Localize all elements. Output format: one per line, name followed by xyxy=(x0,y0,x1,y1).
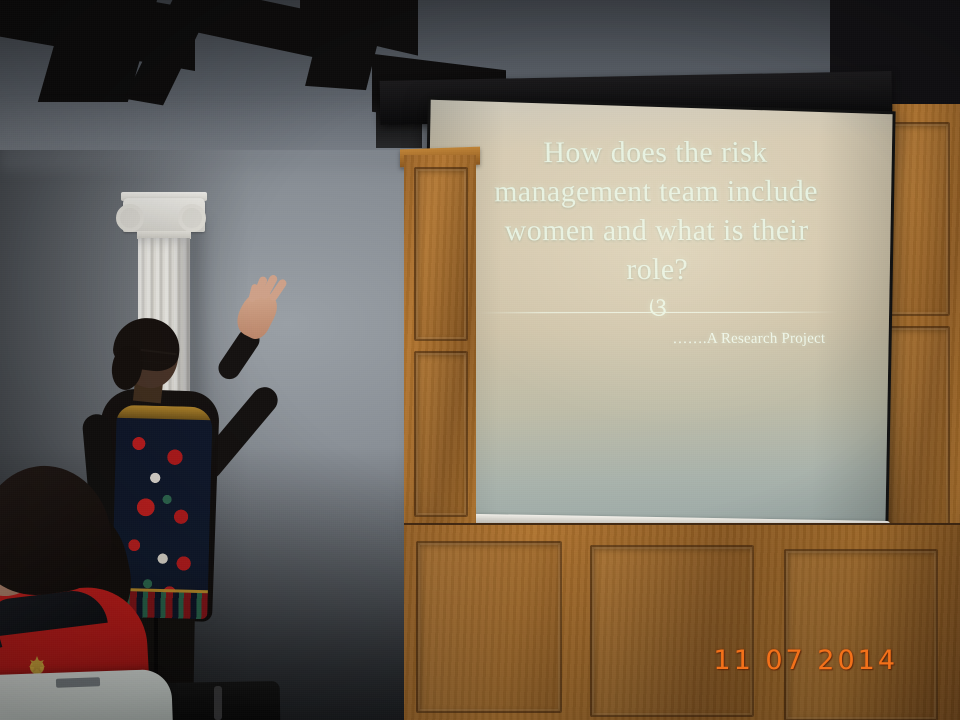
table-object xyxy=(56,677,100,688)
wood-panel xyxy=(784,549,938,720)
slide-subtitle: …….A Research Project xyxy=(457,331,825,349)
chair-rail xyxy=(214,686,222,720)
wood-panel xyxy=(414,351,468,517)
wood-panel xyxy=(884,326,950,530)
wood-panelling-lower xyxy=(404,525,960,720)
wood-panel xyxy=(416,541,562,713)
projection-screen: How does the riskmanagement team include… xyxy=(420,97,895,538)
slide-divider: ଓ xyxy=(478,299,838,326)
tunic-neckband xyxy=(116,405,212,421)
foreground-table xyxy=(0,669,173,720)
photo-scene: How does the riskmanagement team include… xyxy=(0,0,960,720)
camera-timestamp: 11 07 2014 xyxy=(713,645,898,676)
slide-title-line: management team include xyxy=(494,175,818,209)
wood-panel xyxy=(414,167,468,341)
wood-panel xyxy=(590,545,754,717)
divider-ornament-icon: ଓ xyxy=(641,295,675,321)
slide-title-line: role? xyxy=(626,253,688,286)
column-volute-right xyxy=(178,204,206,232)
slide-title: How does the riskmanagement team include… xyxy=(475,133,837,290)
slide-title-line: women and what is their xyxy=(504,214,809,248)
ceiling-glow xyxy=(0,100,430,170)
slide-content: How does the riskmanagement team include… xyxy=(424,107,892,528)
column-capital xyxy=(123,198,205,232)
slide-title-line: How does the risk xyxy=(543,136,768,169)
screen-surface: How does the riskmanagement team include… xyxy=(423,100,892,534)
column-volute-left xyxy=(116,204,144,232)
